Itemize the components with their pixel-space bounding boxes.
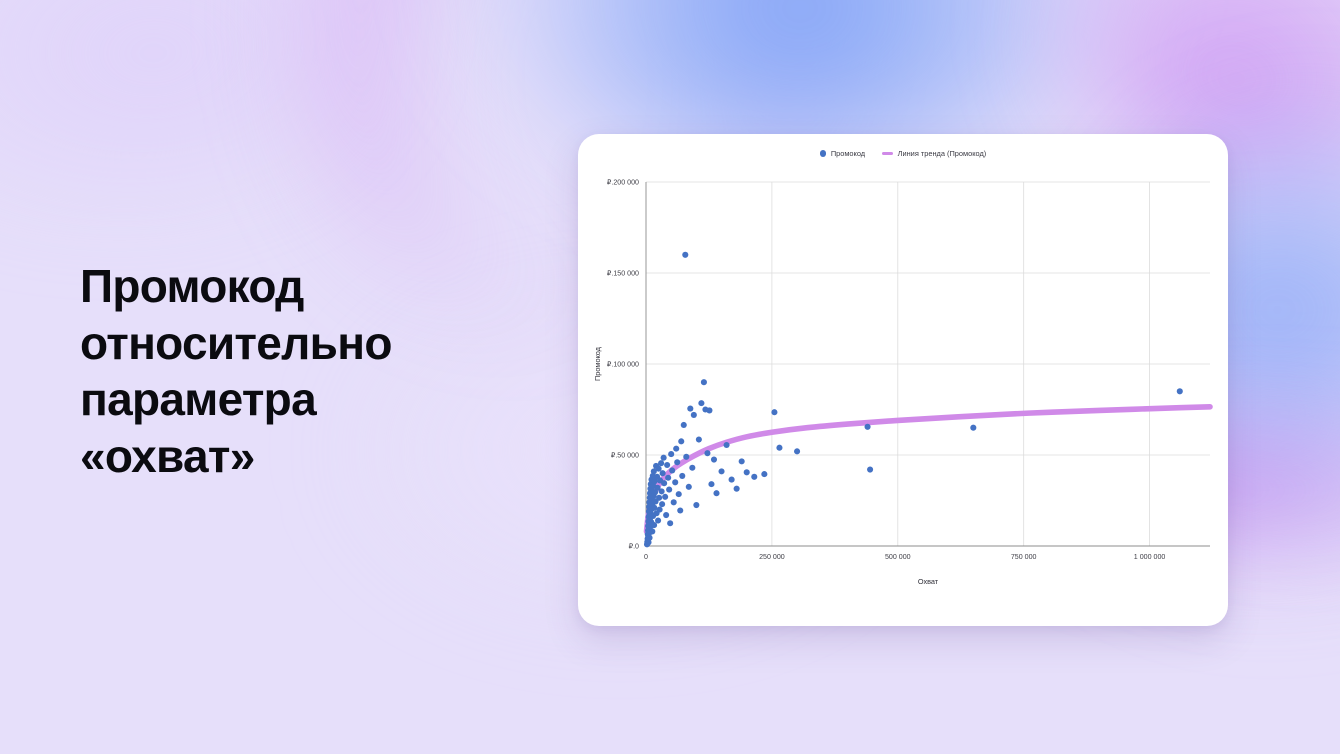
- scatter-point: [1177, 388, 1183, 394]
- scatter-point: [666, 487, 672, 493]
- scatter-point: [668, 451, 674, 457]
- scatter-point: [671, 499, 677, 505]
- y-axis-title: Промокод: [593, 346, 602, 381]
- scatter-point: [682, 252, 688, 258]
- scatter-point: [651, 505, 657, 511]
- plot-trendline: [647, 407, 1211, 532]
- page-title: Промокод относительно параметра «охват»: [80, 258, 560, 484]
- scatter-point: [691, 412, 697, 418]
- scatter-point: [693, 502, 699, 508]
- legend-label-trendline: Линия тренда (Промокод): [898, 149, 987, 158]
- scatter-point: [704, 450, 710, 456]
- scatter-point: [696, 436, 702, 442]
- scatter-point: [665, 475, 671, 481]
- scatter-point: [724, 442, 730, 448]
- scatter-point: [681, 422, 687, 428]
- scatter-point: [649, 528, 655, 534]
- plot-gridlines: [646, 182, 1210, 546]
- trendline-path: [647, 407, 1211, 532]
- scatter-point: [751, 474, 757, 480]
- scatter-point: [734, 486, 740, 492]
- y-tick-label: ₽.0: [629, 543, 639, 551]
- scatter-point: [646, 535, 652, 541]
- plot-y-tick-labels: ₽.0₽.50 000₽.100 000₽.150 000₽.200 000: [607, 179, 639, 551]
- scatter-point: [744, 469, 750, 475]
- scatter-point: [771, 409, 777, 415]
- plot-axis-titles: ОхватПромокод: [593, 346, 939, 586]
- scatter-point: [683, 454, 689, 460]
- y-tick-label: ₽.100 000: [607, 361, 639, 369]
- legend-label-promocode: Промокод: [831, 149, 865, 158]
- y-tick-label: ₽.150 000: [607, 270, 639, 278]
- scatter-point: [661, 455, 667, 461]
- trendline-marker-icon: [882, 152, 893, 155]
- scatter-point: [655, 517, 661, 523]
- x-axis-title: Охват: [918, 577, 939, 586]
- y-tick-label: ₽.200 000: [607, 179, 639, 187]
- scatter-point: [663, 512, 669, 518]
- scatter-point: [739, 458, 745, 464]
- plot-data-points: [644, 252, 1183, 548]
- scatter-point: [776, 445, 782, 451]
- scatter-point: [651, 522, 657, 528]
- scatter-point: [664, 462, 670, 468]
- x-tick-label: 500 000: [885, 553, 911, 561]
- x-tick-label: 750 000: [1011, 553, 1037, 561]
- scatter-point: [698, 400, 704, 406]
- legend-item-trendline[interactable]: Линия тренда (Промокод): [882, 149, 986, 158]
- scatter-point: [657, 507, 663, 513]
- scatter-point: [656, 466, 662, 472]
- scatter-point: [687, 406, 693, 412]
- scatter-point: [676, 491, 682, 497]
- scatter-point: [659, 501, 665, 507]
- x-tick-label: 250 000: [759, 553, 785, 561]
- scatter-point: [686, 484, 692, 490]
- scatter-point: [662, 494, 668, 500]
- scatter-point: [689, 465, 695, 471]
- scatter-point: [713, 490, 719, 496]
- chart-card: Промокод Линия тренда (Промокод) ₽.0₽.50…: [578, 134, 1228, 626]
- y-tick-label: ₽.50 000: [611, 452, 639, 460]
- scatter-point: [658, 460, 664, 466]
- plot-x-tick-labels: 0250 000500 000750 0001 000 000: [644, 553, 1165, 561]
- scatter-point: [701, 379, 707, 385]
- scatter-point: [656, 495, 662, 501]
- scatter-point: [674, 459, 680, 465]
- scatter-point: [711, 457, 717, 463]
- scatter-point: [679, 473, 685, 479]
- scatter-point: [865, 424, 871, 430]
- scatter-point: [660, 470, 666, 476]
- legend-item-promocode[interactable]: Промокод: [820, 149, 865, 158]
- x-tick-label: 1 000 000: [1134, 553, 1166, 561]
- scatter-point: [672, 479, 678, 485]
- scatter-point: [867, 467, 873, 473]
- scatter-point: [667, 520, 673, 526]
- scatter-point: [669, 467, 675, 473]
- scatter-point: [659, 488, 665, 494]
- scatter-point: [677, 507, 683, 513]
- scatter-point: [794, 448, 800, 454]
- scatter-marker-icon: [820, 150, 827, 157]
- scatter-plot[interactable]: ₽.0₽.50 000₽.100 000₽.150 000₽.200 000 0…: [578, 160, 1228, 626]
- chart-legend: Промокод Линия тренда (Промокод): [578, 149, 1228, 158]
- scatter-point: [708, 481, 714, 487]
- scatter-point: [661, 480, 667, 486]
- scatter-point: [673, 446, 679, 452]
- x-tick-label: 0: [644, 553, 648, 561]
- scatter-point: [718, 468, 724, 474]
- scatter-point: [729, 477, 735, 483]
- scatter-point: [761, 471, 767, 477]
- scatter-point: [678, 438, 684, 444]
- scatter-point: [970, 425, 976, 431]
- scatter-point: [706, 407, 712, 413]
